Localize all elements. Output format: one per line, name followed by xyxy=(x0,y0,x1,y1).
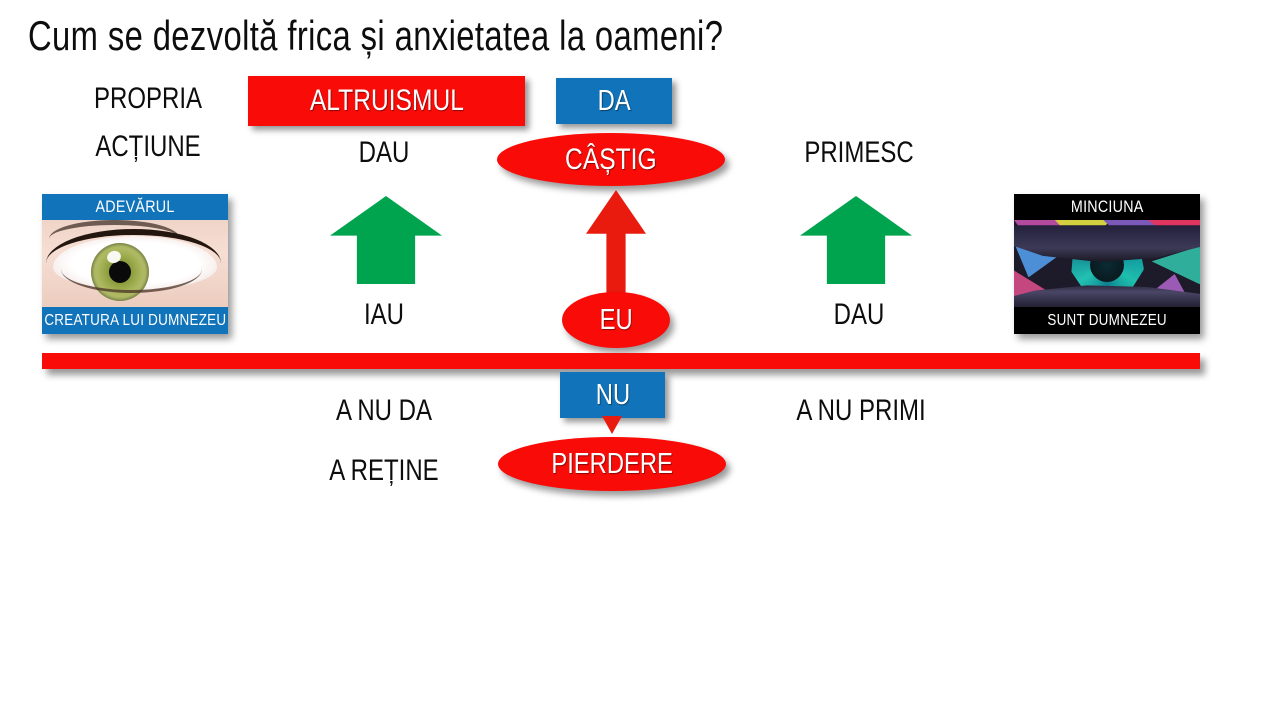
lowpoly-eye-icon xyxy=(1014,220,1200,307)
card-truth[interactable]: ADEVĂRUL CREATURA LUI DUMNEZEU xyxy=(42,194,228,334)
banner-altruism-label: ALTRUISMUL xyxy=(309,84,463,118)
page-title: Cum se dezvoltă frica și anxietatea la o… xyxy=(28,12,723,60)
ellipse-loss-label: PIERDERE xyxy=(551,448,673,481)
card-lie-bottom-caption-text: SUNT DUMNEZEU xyxy=(1047,312,1167,330)
card-truth-top-caption-text: ADEVĂRUL xyxy=(95,197,174,217)
ellipse-self-label: EU xyxy=(599,304,632,337)
banner-yes-label: DA xyxy=(597,85,630,118)
label-dau-bottom-right: DAU xyxy=(788,296,930,334)
card-lie-photo xyxy=(1014,220,1200,307)
card-lie-top-caption-text: MINCIUNA xyxy=(1071,197,1144,217)
label-iau: IAU xyxy=(317,296,451,334)
ellipse-loss[interactable]: PIERDERE xyxy=(498,437,726,491)
card-lie-bottom-caption: SUNT DUMNEZEU xyxy=(1014,307,1200,334)
slide-canvas: Cum se dezvoltă frica și anxietatea la o… xyxy=(0,0,1280,720)
banner-yes[interactable]: DA xyxy=(556,78,672,124)
label-a-nu-primi: A NU PRIMI xyxy=(785,392,937,430)
ellipse-self[interactable]: EU xyxy=(562,292,670,348)
arrow-up-icon-right xyxy=(800,196,912,284)
card-truth-top-caption: ADEVĂRUL xyxy=(42,194,228,220)
label-actiune: ACȚIUNE xyxy=(76,128,220,166)
arrow-up-icon-left xyxy=(330,196,442,284)
arrow-down-icon-center xyxy=(602,416,622,434)
banner-no-label: NU xyxy=(595,379,629,412)
label-a-nu-da: A NU DA xyxy=(317,392,451,430)
card-lie[interactable]: MINCIUNA SUNT DUMNEZEU xyxy=(1014,194,1200,334)
card-lie-top-caption: MINCIUNA xyxy=(1014,194,1200,220)
banner-altruism[interactable]: ALTRUISMUL xyxy=(248,76,525,126)
label-primesc: PRIMESC xyxy=(788,134,930,172)
realistic-eye-icon xyxy=(42,220,228,307)
ellipse-gain[interactable]: CÂȘTIG xyxy=(497,133,725,186)
divider-red-bar xyxy=(42,353,1200,369)
card-truth-bottom-caption-text: CREATURA LUI DUMNEZEU xyxy=(44,312,226,330)
banner-no[interactable]: NU xyxy=(560,372,665,418)
card-truth-photo xyxy=(42,220,228,307)
ellipse-gain-label: CÂȘTIG xyxy=(565,143,657,177)
label-dau-top-left: DAU xyxy=(317,134,451,172)
card-truth-bottom-caption: CREATURA LUI DUMNEZEU xyxy=(42,307,228,334)
label-propria: PROPRIA xyxy=(76,80,220,118)
arrow-up-icon-center xyxy=(586,190,646,305)
label-a-retine: A REȚINE xyxy=(317,452,451,490)
